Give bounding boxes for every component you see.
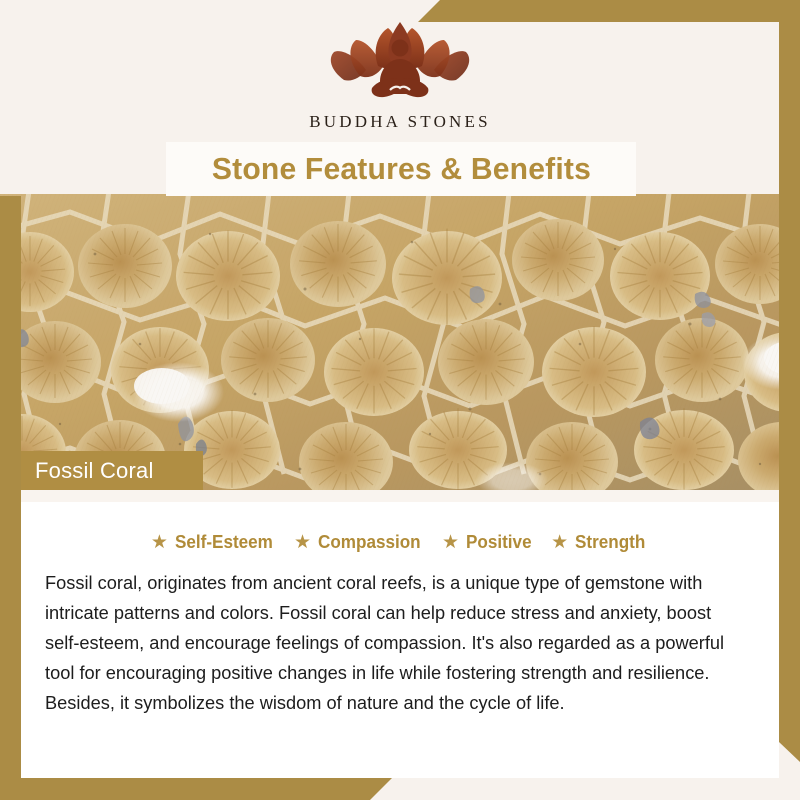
brand-wordmark: BUDDHA STONES <box>309 112 491 132</box>
benefits-row: ★ Self-Esteem ★ Compassion ★ Positive ★ … <box>21 532 779 553</box>
stone-description: Fossil coral, originates from ancient co… <box>45 568 735 718</box>
brand-header: BUDDHA STONES <box>0 18 800 142</box>
stone-info-card: BUDDHA STONES Stone Features & Benefits … <box>0 0 800 800</box>
star-icon: ★ <box>151 533 168 552</box>
benefit-item-1: ★ Compassion <box>294 532 426 553</box>
stone-name-banner: Fossil Coral <box>21 451 203 490</box>
frame-accent-top-right <box>418 0 800 22</box>
frame-accent-left <box>0 196 21 800</box>
title-band: Stone Features & Benefits <box>166 142 636 196</box>
star-icon: ★ <box>442 533 459 552</box>
benefit-item-0: ★ Self-Esteem <box>151 532 278 553</box>
panel-top-strip <box>21 490 779 502</box>
star-icon: ★ <box>294 533 311 552</box>
benefit-label: Positive <box>466 532 532 553</box>
fossil-coral-photo <box>0 194 800 490</box>
page-title: Stone Features & Benefits <box>211 151 590 187</box>
benefit-label: Self-Esteem <box>175 532 273 553</box>
stone-name-label: Fossil Coral <box>35 458 154 484</box>
frame-accent-right <box>779 0 800 762</box>
benefit-item-3: ★ Strength <box>551 532 649 553</box>
lotus-meditation-figure-icon <box>320 18 480 110</box>
star-icon: ★ <box>551 533 568 552</box>
benefit-label: Compassion <box>318 532 421 553</box>
frame-accent-bottom-left <box>0 778 392 800</box>
benefit-label: Strength <box>575 532 645 553</box>
benefit-item-2: ★ Positive <box>442 532 535 553</box>
